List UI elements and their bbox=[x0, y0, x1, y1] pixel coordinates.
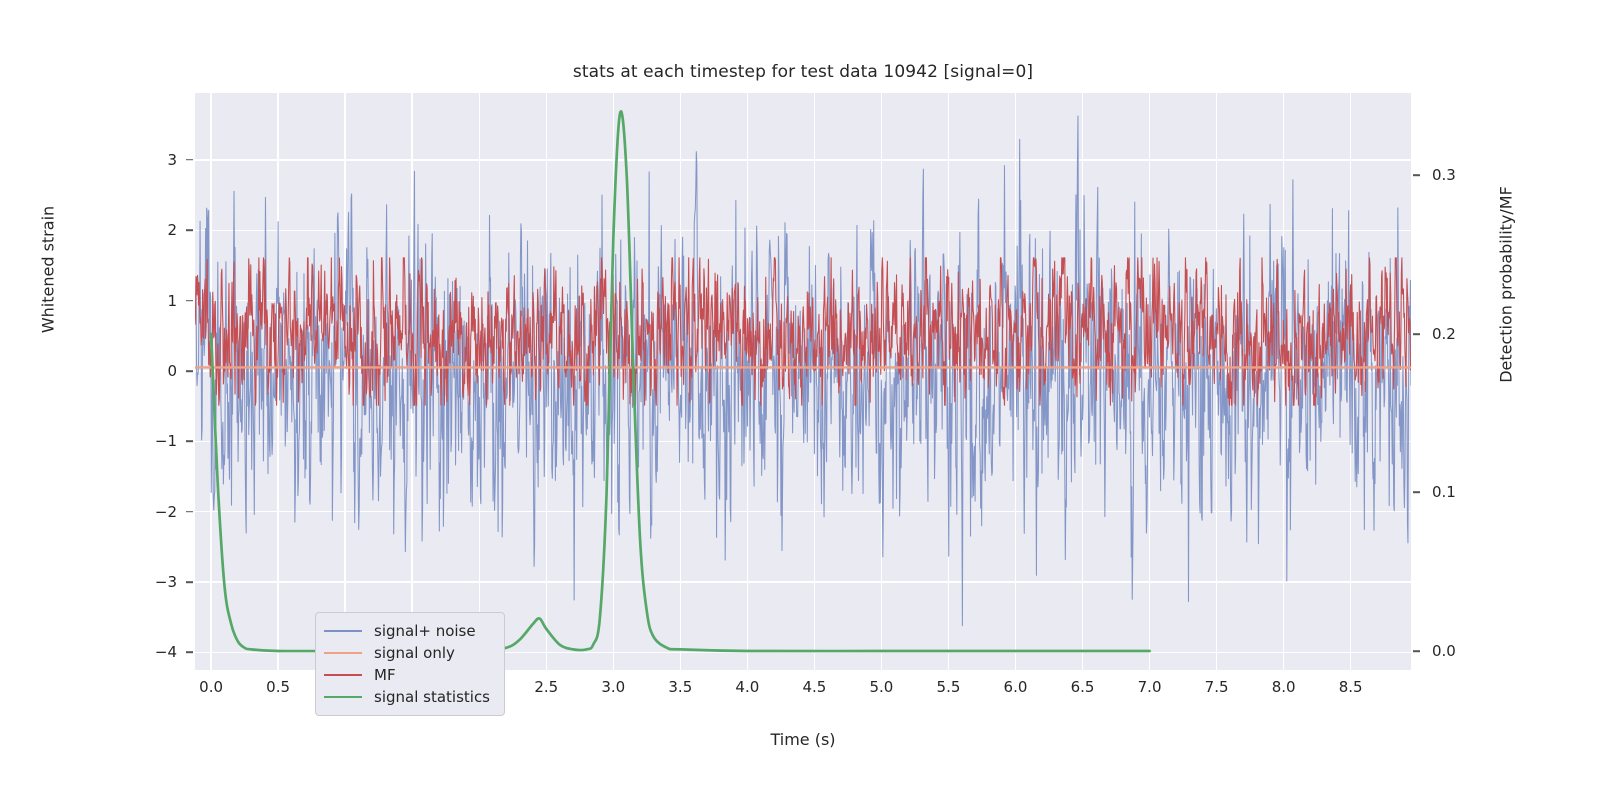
x-axis-tick-label: 2.5 bbox=[534, 678, 558, 696]
legend-item[interactable]: signal statistics bbox=[324, 686, 490, 708]
y-axis-right-tick-label: 0.2 bbox=[1432, 325, 1456, 343]
legend-label: signal statistics bbox=[374, 688, 490, 706]
y-axis-right-tick-label: 0.3 bbox=[1432, 166, 1456, 184]
y-axis-left-tick-label: 1 bbox=[167, 292, 177, 310]
y-axis-left-tick-label: −3 bbox=[155, 573, 177, 591]
x-axis-tick-label: 7.5 bbox=[1205, 678, 1229, 696]
y-axis-left-tick-mark bbox=[186, 300, 193, 302]
y-axis-right-tick-label: 0.0 bbox=[1432, 642, 1456, 660]
legend: signal+ noisesignal onlyMFsignal statist… bbox=[315, 612, 505, 716]
y-axis-right-tick-label: 0.1 bbox=[1432, 483, 1456, 501]
legend-swatch-icon bbox=[324, 696, 362, 698]
y-axis-left-tick-mark bbox=[186, 652, 193, 654]
x-axis-tick-label: 0.0 bbox=[199, 678, 223, 696]
y-axis-left-tick-mark bbox=[186, 581, 193, 583]
x-axis-tick-label: 7.0 bbox=[1138, 678, 1162, 696]
y-axis-right-tick-mark bbox=[1413, 650, 1420, 652]
x-axis-tick-label: 6.5 bbox=[1071, 678, 1095, 696]
y-axis-left-tick-mark bbox=[186, 229, 193, 231]
x-axis-label: Time (s) bbox=[195, 730, 1411, 749]
x-axis-tick-label: 4.5 bbox=[802, 678, 826, 696]
x-axis-tick-label: 3.0 bbox=[601, 678, 625, 696]
x-axis-tick-label: 5.5 bbox=[937, 678, 961, 696]
y-axis-left-tick-label: −2 bbox=[155, 503, 177, 521]
y-axis-right-tick-mark bbox=[1413, 492, 1420, 494]
x-axis-tick-label: 8.5 bbox=[1339, 678, 1363, 696]
x-axis-tick-label: 0.5 bbox=[266, 678, 290, 696]
x-axis-tick-label: 3.5 bbox=[668, 678, 692, 696]
y-axis-left-tick-mark bbox=[186, 370, 193, 372]
y-axis-right-tick-mark bbox=[1413, 333, 1420, 335]
y-axis-left-tick-label: 3 bbox=[167, 151, 177, 169]
y-axis-left-label: Whitened strain bbox=[39, 160, 58, 380]
figure: stats at each timestep for test data 109… bbox=[0, 0, 1600, 800]
y-axis-right-tick-mark bbox=[1413, 175, 1420, 177]
legend-label: signal only bbox=[374, 644, 455, 662]
x-axis-tick-label: 5.0 bbox=[869, 678, 893, 696]
legend-swatch-icon bbox=[324, 674, 362, 676]
x-axis-tick-label: 6.0 bbox=[1004, 678, 1028, 696]
plot-series-layer bbox=[195, 93, 1411, 670]
legend-item[interactable]: signal+ noise bbox=[324, 620, 490, 642]
chart-title: stats at each timestep for test data 109… bbox=[195, 62, 1411, 82]
y-axis-left-tick-label: −1 bbox=[155, 432, 177, 450]
y-axis-left-tick-label: 0 bbox=[167, 362, 177, 380]
legend-label: MF bbox=[374, 666, 396, 684]
y-axis-left-tick-label: 2 bbox=[167, 221, 177, 239]
y-axis-left-tick-mark bbox=[186, 441, 193, 443]
y-axis-left-tick-mark bbox=[186, 511, 193, 513]
y-axis-right-label: Detection probability/MF bbox=[1497, 155, 1516, 415]
legend-swatch-icon bbox=[324, 652, 362, 654]
legend-swatch-icon bbox=[324, 630, 362, 632]
y-axis-left-tick-mark bbox=[186, 159, 193, 161]
series-signal-plus-noise bbox=[195, 116, 1411, 626]
plot-area bbox=[195, 93, 1411, 670]
legend-label: signal+ noise bbox=[374, 622, 476, 640]
legend-item[interactable]: MF bbox=[324, 664, 490, 686]
x-axis-tick-label: 8.0 bbox=[1272, 678, 1296, 696]
y-axis-left-tick-label: −4 bbox=[155, 643, 177, 661]
x-axis-tick-label: 4.0 bbox=[735, 678, 759, 696]
legend-item[interactable]: signal only bbox=[324, 642, 490, 664]
